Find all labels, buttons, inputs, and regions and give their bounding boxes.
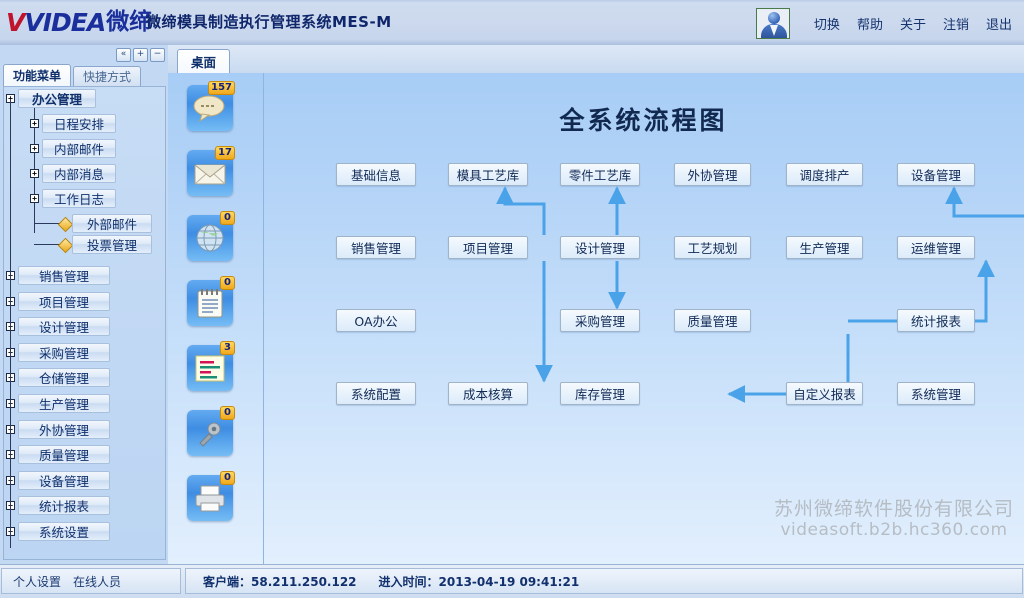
sidebar-tabs: 功能菜单 快捷方式 (3, 64, 166, 86)
flowchart-title: 全系统流程图 (263, 101, 1024, 137)
menu-item-logout[interactable]: 注销 (943, 14, 969, 33)
messages-icon (192, 91, 228, 125)
sidebar-item-设计管理[interactable]: 设计管理 (18, 317, 110, 336)
status-login-time: 进入时间：2013-04-19 09:41:21 (379, 573, 580, 590)
status-client-ip: 客户端：58.211.250.122 (203, 573, 357, 590)
desktop-icon-column: 157 17 0 0 3 0 0 (168, 73, 264, 564)
sidebar-tree: +办公管理+日程安排+内部邮件+内部消息+工作日志外部邮件投票管理+销售管理+项… (3, 86, 166, 560)
tree-leaf-icon (58, 238, 74, 254)
globe-icon-button[interactable]: 0 (187, 215, 233, 261)
collapse-icon[interactable]: « (116, 48, 131, 62)
flow-node-项目管理[interactable]: 项目管理 (448, 236, 528, 259)
sidebar-item-系统设置[interactable]: 系统设置 (18, 522, 110, 541)
flow-node-基础信息[interactable]: 基础信息 (336, 163, 416, 186)
brand-logo: VVIDEA 微缔 (6, 7, 152, 38)
flow-node-采购管理[interactable]: 采购管理 (560, 309, 640, 332)
sidebar-item-日程安排[interactable]: 日程安排 (42, 114, 116, 133)
flow-node-设备管理[interactable]: 设备管理 (897, 163, 975, 186)
notepad-icon-button[interactable]: 0 (187, 280, 233, 326)
sidebar-item-仓储管理[interactable]: 仓储管理 (18, 368, 110, 387)
avatar[interactable] (756, 8, 790, 39)
page-title: 微缔模具制造执行管理系统MES-M (146, 11, 392, 32)
expand-all-icon[interactable]: + (133, 48, 148, 62)
sidebar-item-销售管理[interactable]: 销售管理 (18, 266, 110, 285)
sidebar-item-投票管理[interactable]: 投票管理 (72, 235, 152, 254)
tree-leaf-icon (58, 217, 74, 233)
flow-node-销售管理[interactable]: 销售管理 (336, 236, 416, 259)
printer-icon-badge: 0 (220, 471, 235, 485)
sidebar-item-内部消息[interactable]: 内部消息 (42, 164, 116, 183)
status-bar: 个人设置 在线人员 客户端：58.211.250.122 进入时间：2013-0… (0, 564, 1024, 598)
mail-icon-badge: 17 (215, 146, 235, 160)
flow-node-质量管理[interactable]: 质量管理 (674, 309, 751, 332)
messages-icon-badge: 157 (208, 81, 235, 95)
printer-icon (192, 481, 228, 515)
flow-node-系统管理[interactable]: 系统管理 (897, 382, 975, 405)
flow-node-零件工艺库[interactable]: 零件工艺库 (560, 163, 640, 186)
flow-node-系统配置[interactable]: 系统配置 (336, 382, 416, 405)
sidebar-item-统计报表[interactable]: 统计报表 (18, 496, 110, 515)
sidebar-item-生产管理[interactable]: 生产管理 (18, 394, 110, 413)
tools-icon-button[interactable]: 0 (187, 410, 233, 456)
tools-icon-badge: 0 (220, 406, 235, 420)
flow-node-模具工艺库[interactable]: 模具工艺库 (448, 163, 528, 186)
tree-toggle-1[interactable]: + (30, 144, 39, 153)
notepad-icon (192, 286, 228, 320)
status-online-users[interactable]: 在线人员 (73, 573, 121, 590)
document-edit-icon-badge: 3 (220, 341, 235, 355)
document-edit-icon-button[interactable]: 3 (187, 345, 233, 391)
flow-node-工艺规划[interactable]: 工艺规划 (674, 236, 751, 259)
application-window: VVIDEA 微缔 微缔模具制造执行管理系统MES-M 切换 帮助 关于 注销 … (0, 0, 1024, 598)
printer-icon-button[interactable]: 0 (187, 475, 233, 521)
flow-node-统计报表[interactable]: 统计报表 (897, 309, 975, 332)
notepad-icon-badge: 0 (220, 276, 235, 290)
document-edit-icon (192, 351, 228, 385)
sidebar-item-office[interactable]: 办公管理 (18, 89, 96, 108)
flow-node-成本核算[interactable]: 成本核算 (448, 382, 528, 405)
app-header: VVIDEA 微缔 微缔模具制造执行管理系统MES-M 切换 帮助 关于 注销 … (0, 0, 1024, 46)
flow-node-自定义报表[interactable]: 自定义报表 (786, 382, 863, 405)
sidebar-item-采购管理[interactable]: 采购管理 (18, 343, 110, 362)
header-menu: 切换 帮助 关于 注销 退出 (814, 14, 1012, 33)
mail-icon (192, 156, 228, 190)
flow-node-生产管理[interactable]: 生产管理 (786, 236, 863, 259)
sidebar-toolbar: « + − (116, 48, 165, 62)
menu-item-about[interactable]: 关于 (900, 14, 926, 33)
avatar-head-icon (768, 12, 780, 24)
menu-item-switch[interactable]: 切换 (814, 14, 840, 33)
flowchart: 全系统流程图 (263, 73, 1024, 564)
globe-icon-badge: 0 (220, 211, 235, 225)
flow-node-外协管理[interactable]: 外协管理 (674, 163, 751, 186)
sidebar-item-质量管理[interactable]: 质量管理 (18, 445, 110, 464)
tree-toggle-2[interactable]: + (30, 169, 39, 178)
flow-node-运维管理[interactable]: 运维管理 (897, 236, 975, 259)
globe-icon (192, 221, 228, 255)
status-left-group: 个人设置 在线人员 (1, 568, 181, 594)
mail-icon-button[interactable]: 17 (187, 150, 233, 196)
sidebar: « + − 功能菜单 快捷方式 +办公管理+日程安排+内部邮件+内部消息+工作日… (0, 45, 169, 564)
sidebar-item-外部邮件[interactable]: 外部邮件 (72, 214, 152, 233)
sidebar-item-项目管理[interactable]: 项目管理 (18, 292, 110, 311)
tab-desktop[interactable]: 桌面 (177, 49, 230, 73)
menu-item-exit[interactable]: 退出 (986, 14, 1012, 33)
flow-node-库存管理[interactable]: 库存管理 (560, 382, 640, 405)
sidebar-item-内部邮件[interactable]: 内部邮件 (42, 139, 116, 158)
sidebar-item-工作日志[interactable]: 工作日志 (42, 189, 116, 208)
flow-node-调度排产[interactable]: 调度排产 (786, 163, 863, 186)
sidebar-item-设备管理[interactable]: 设备管理 (18, 471, 110, 490)
tree-toggle-3[interactable]: + (30, 194, 39, 203)
tab-shortcuts[interactable]: 快捷方式 (73, 66, 141, 86)
tree-toggle-0[interactable]: + (30, 119, 39, 128)
content-tabstrip: 桌面 (168, 45, 1024, 74)
tools-icon (192, 416, 228, 450)
flow-node-设计管理[interactable]: 设计管理 (560, 236, 640, 259)
flow-node-OA办公[interactable]: OA办公 (336, 309, 416, 332)
tree-spine-lower (10, 266, 11, 548)
logo-wordmark: VVIDEA (6, 10, 105, 35)
status-personal-settings[interactable]: 个人设置 (13, 573, 61, 590)
sidebar-item-外协管理[interactable]: 外协管理 (18, 420, 110, 439)
menu-item-help[interactable]: 帮助 (857, 14, 883, 33)
collapse-all-icon[interactable]: − (150, 48, 165, 62)
desktop-area: 157 17 0 0 3 0 0 全 (168, 73, 1024, 564)
messages-icon-button[interactable]: 157 (187, 85, 233, 131)
tab-function-menu[interactable]: 功能菜单 (3, 64, 71, 86)
status-right-group: 客户端：58.211.250.122 进入时间：2013-04-19 09:41… (185, 568, 1023, 594)
